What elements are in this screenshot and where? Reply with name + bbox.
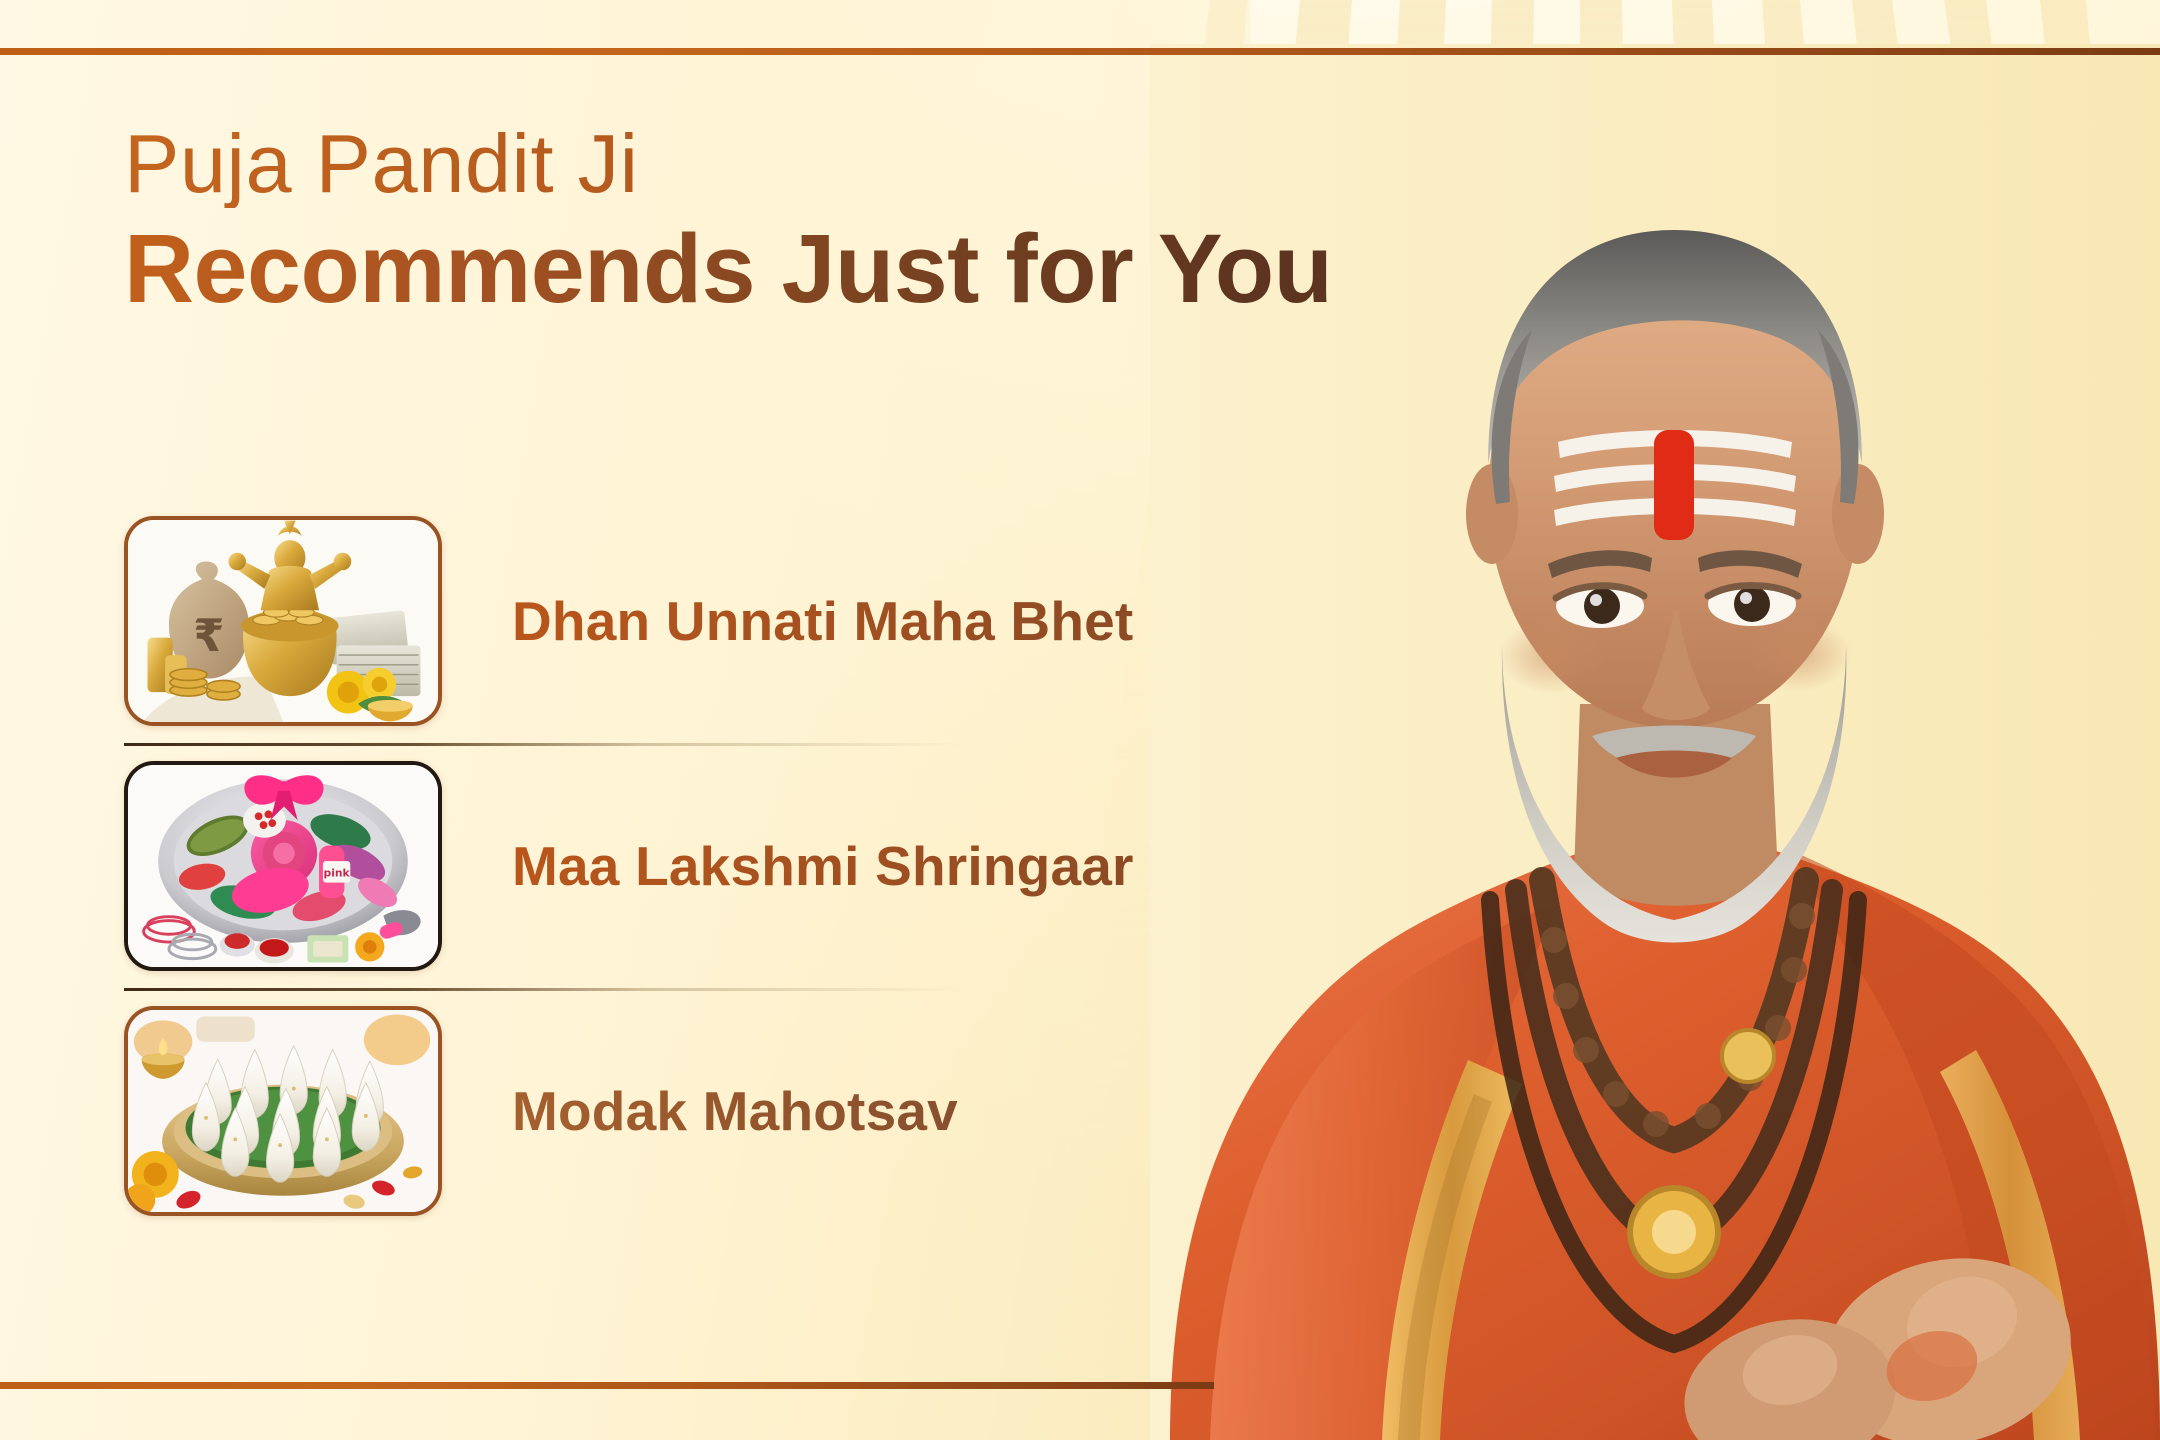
headline-line-2: Recommends Just for You [124, 218, 1544, 321]
list-item-label: Dhan Unnati Maha Bhet [512, 589, 1133, 653]
svg-text:₹: ₹ [193, 609, 224, 662]
list-item[interactable]: Modak Mahotsav [124, 988, 1084, 1233]
modak-bowl-thumbnail[interactable] [124, 1006, 442, 1216]
list-item-label: Maa Lakshmi Shringaar [512, 834, 1134, 898]
list-separator [124, 743, 964, 746]
list-item[interactable]: pink [124, 743, 1084, 988]
headline-line-1: Puja Pandit Ji [124, 120, 1544, 208]
list-item[interactable]: ₹ [124, 498, 1084, 743]
list-item-label: Modak Mahotsav [512, 1079, 958, 1143]
svg-text:pink: pink [324, 866, 351, 879]
bottom-divider-rule [0, 1382, 1214, 1389]
page-title: Puja Pandit Ji Recommends Just for You [124, 120, 1544, 321]
list-separator [124, 988, 964, 991]
recommendation-list: ₹ [124, 498, 1084, 1233]
lakshmi-kalash-wealth-thumbnail[interactable]: ₹ [124, 516, 442, 726]
top-divider-rule [0, 48, 2160, 55]
shringaar-thali-thumbnail[interactable]: pink [124, 761, 442, 971]
recommendation-banner: Puja Pandit Ji Recommends Just for You [0, 0, 2160, 1440]
